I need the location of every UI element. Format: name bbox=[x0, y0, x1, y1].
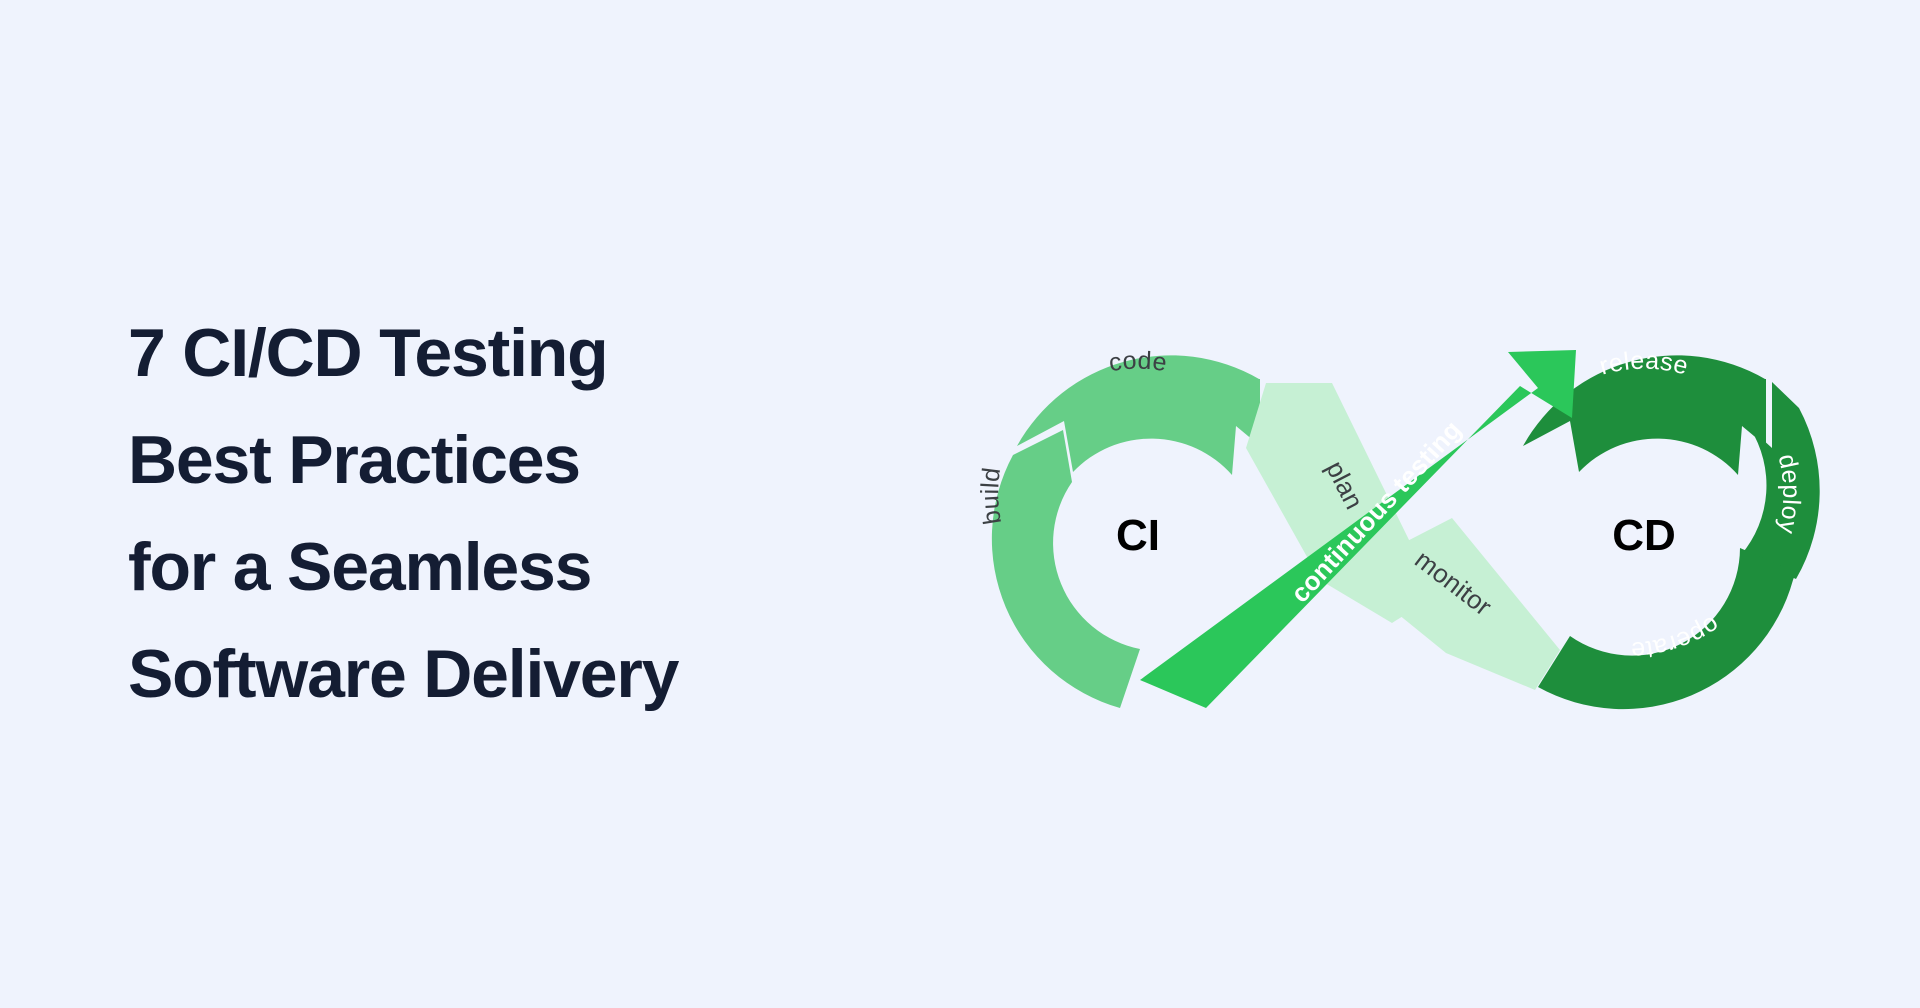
devops-infinity-svg: CI CD code build release deploy operate … bbox=[960, 250, 1820, 710]
ci-segment-code-label: code bbox=[1107, 347, 1169, 378]
cd-segment-deploy-text: deploy bbox=[1773, 452, 1806, 537]
ci-segment-code-text: code bbox=[1107, 347, 1169, 378]
page-root: 7 CI/CD Testing Best Practices for a Sea… bbox=[0, 0, 1920, 1008]
devops-infinity-diagram: CI CD code build release deploy operate … bbox=[960, 250, 1820, 710]
page-title-line-2: Best Practices bbox=[128, 407, 848, 514]
ci-segment-build-text: build bbox=[976, 466, 1007, 527]
page-title: 7 CI/CD Testing Best Practices for a Sea… bbox=[128, 300, 848, 728]
pale-cross-bands bbox=[1246, 383, 1560, 690]
ci-segment-build-arc bbox=[992, 430, 1140, 708]
cd-segment-operate-arc bbox=[1538, 548, 1796, 709]
page-title-line-3: for a Seamless bbox=[128, 514, 848, 621]
ci-hub-label: CI bbox=[1116, 511, 1160, 560]
cd-hub-label: CD bbox=[1612, 511, 1676, 560]
ci-segment-build-label: build bbox=[976, 466, 1007, 527]
page-title-line-4: Software Delivery bbox=[128, 621, 848, 728]
page-title-line-1: 7 CI/CD Testing bbox=[128, 300, 848, 407]
cd-segment-deploy-label: deploy bbox=[1773, 452, 1806, 537]
